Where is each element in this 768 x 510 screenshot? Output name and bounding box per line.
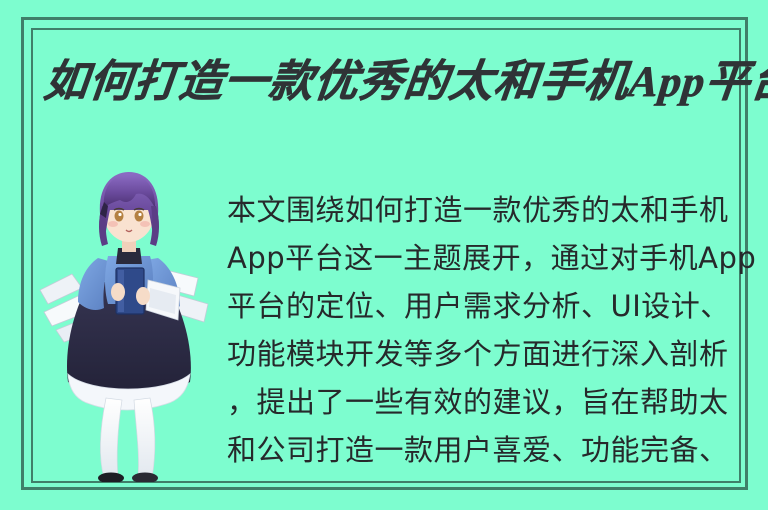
hand-left <box>111 283 125 301</box>
body-paragraph: 本文围绕如何打造一款优秀的太和手机 App平台这一主题展开，通过对手机App 平… <box>227 186 735 474</box>
body-line: 功能模块开发等多个方面进行深入剖析 <box>227 330 735 378</box>
anime-girl-illustration <box>38 162 218 482</box>
body-line: 平台的定位、用户需求分析、UI设计、 <box>227 282 735 330</box>
eye-left <box>115 211 124 222</box>
body-line: 和公司打造一款用户喜爱、功能完备、 <box>227 426 735 474</box>
page-title: 如何打造一款优秀的太和手机App平台？ <box>41 54 737 110</box>
poster-canvas: 如何打造一款优秀的太和手机App平台？ <box>0 0 768 510</box>
body-line: App平台这一主题展开，通过对手机App <box>227 234 735 282</box>
body-line: 本文围绕如何打造一款优秀的太和手机 <box>227 186 735 234</box>
body-line: ，提出了一些有效的建议，旨在帮助太 <box>227 378 735 426</box>
shoes <box>98 473 158 483</box>
hand-right <box>136 287 150 305</box>
eye-right <box>135 211 144 222</box>
